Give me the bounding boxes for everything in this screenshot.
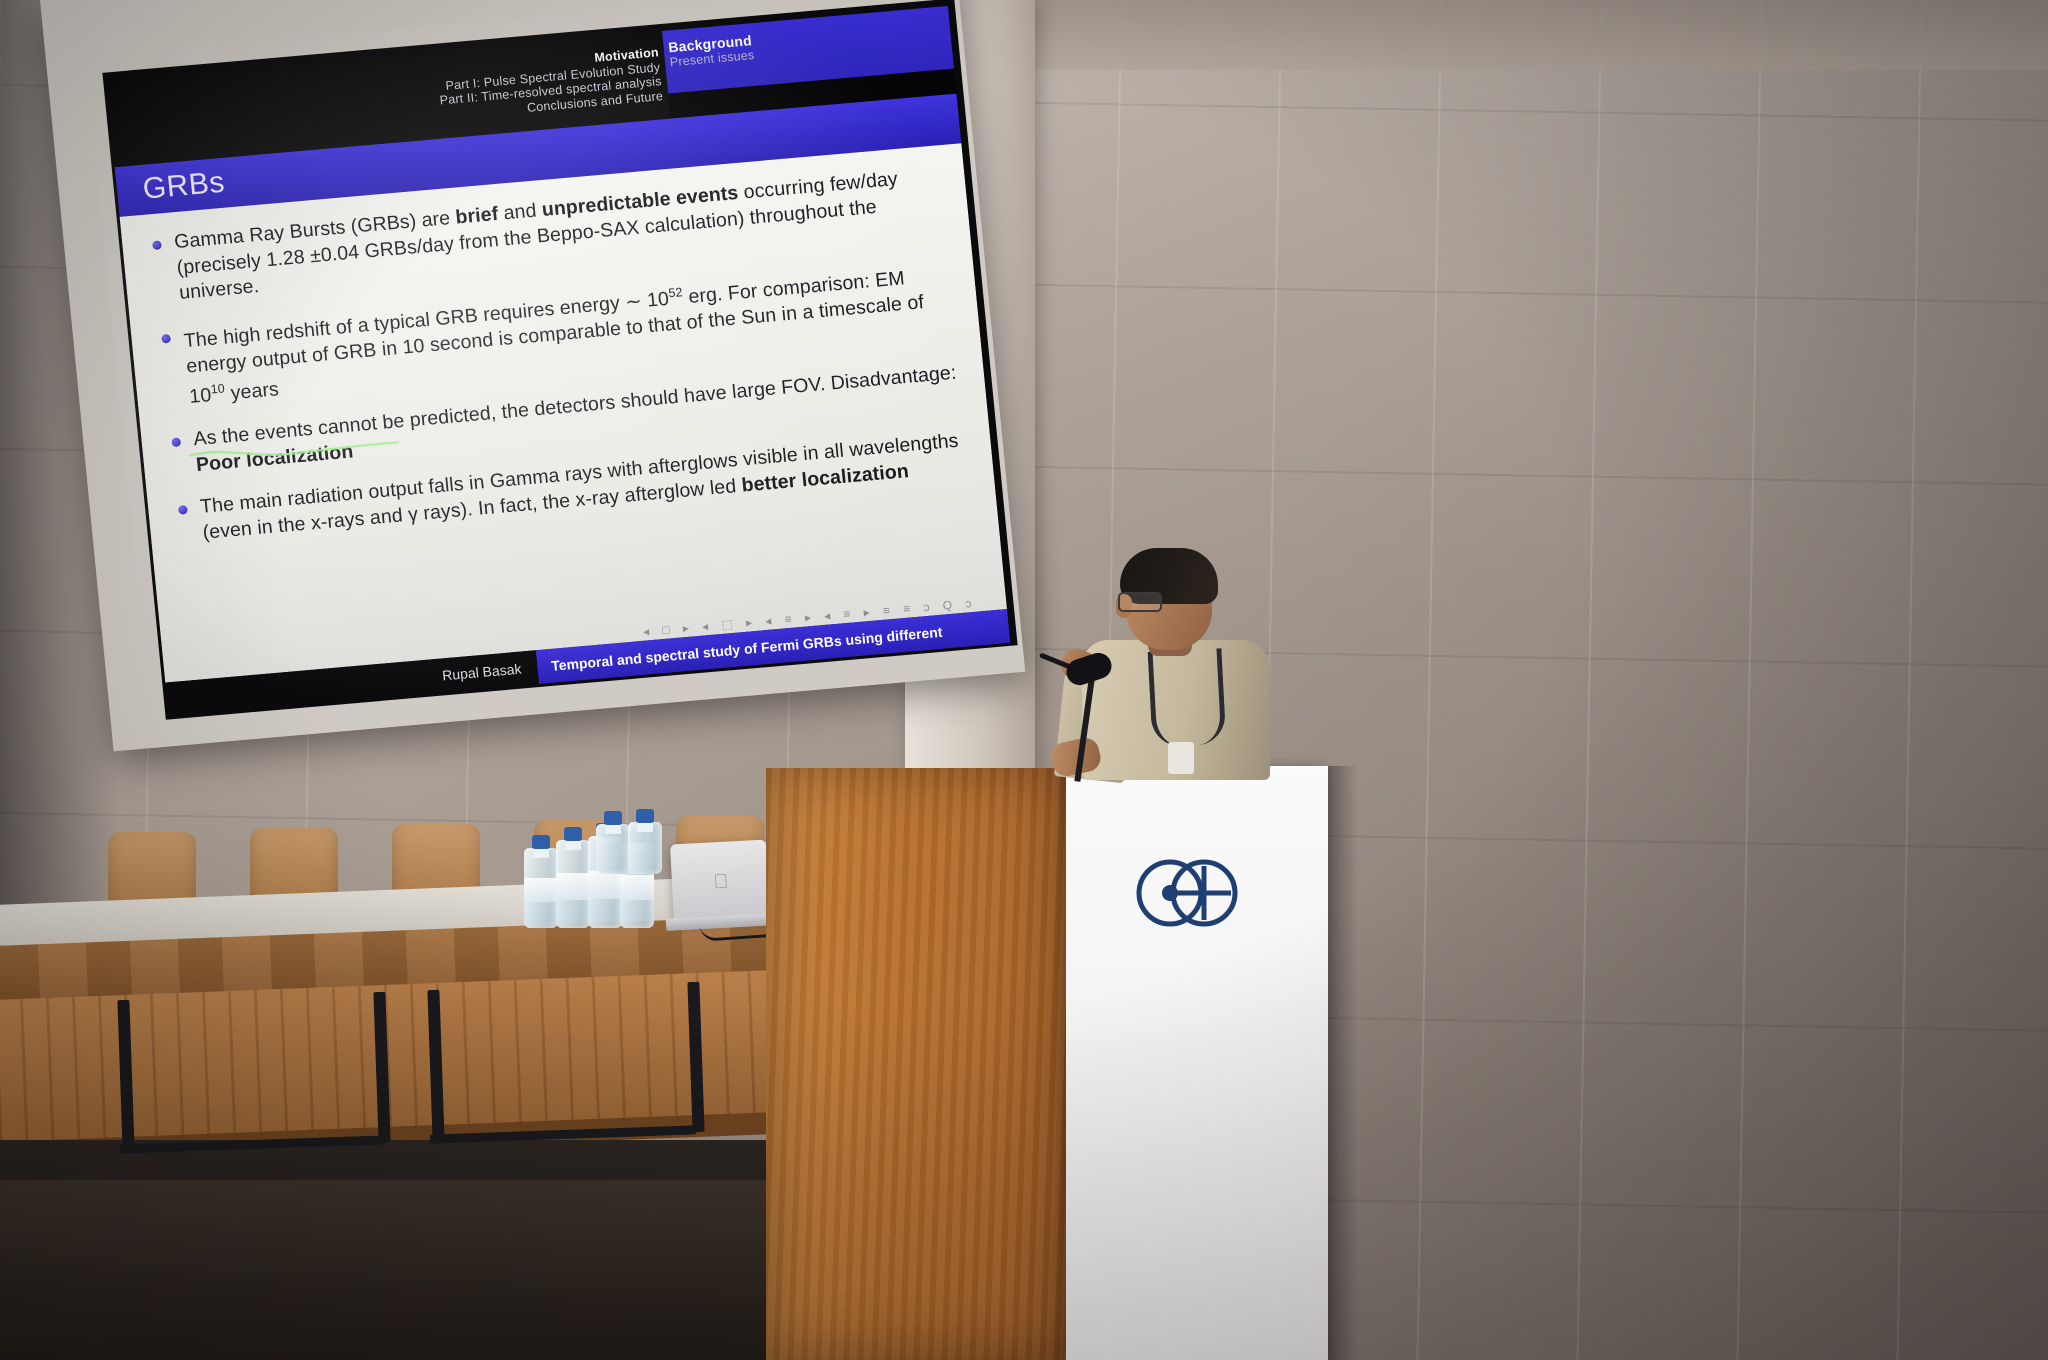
conference-hall-photo: Motivation Part I: Pulse Spectral Evolut… <box>0 0 2048 1360</box>
photo-vignette <box>0 0 2048 1360</box>
